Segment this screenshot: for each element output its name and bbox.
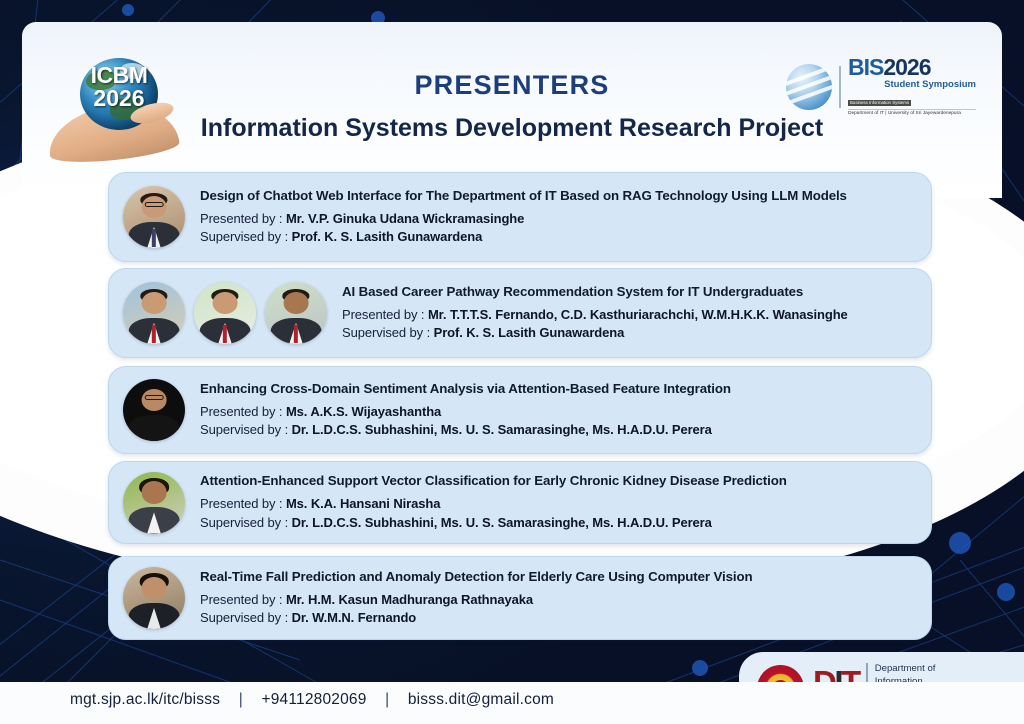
presented-by-label: Presented by : xyxy=(200,592,286,607)
supervised-by-line: Supervised by : Prof. K. S. Lasith Gunaw… xyxy=(342,324,848,342)
presented-by-line: Presented by : Mr. V.P. Ginuka Udana Wic… xyxy=(200,210,847,228)
presenter-details: Enhancing Cross-Domain Sentiment Analysi… xyxy=(185,381,745,440)
presenter-card[interactable]: Design of Chatbot Web Interface for The … xyxy=(108,172,932,262)
bis-logo-tagline: Student Symposium xyxy=(848,80,976,90)
supervised-by-line: Supervised by : Dr. L.D.C.S. Subhashini,… xyxy=(200,514,787,532)
globe-stripes-icon xyxy=(786,64,832,110)
supervisor-names: Prof. K. S. Lasith Gunawardena xyxy=(292,229,483,244)
presenter-card[interactable]: Real-Time Fall Prediction and Anomaly De… xyxy=(108,556,932,640)
presented-by-line: Presented by : Mr. H.M. Kasun Madhuranga… xyxy=(200,591,752,609)
presenter-photos xyxy=(109,567,185,629)
presented-by-line: Presented by : Mr. T.T.T.S. Fernando, C.… xyxy=(342,306,848,324)
project-title: Design of Chatbot Web Interface for The … xyxy=(200,188,847,203)
footer-bar: mgt.sjp.ac.lk/itc/bisss | +94112802069 |… xyxy=(0,682,1024,724)
presenter-names: Mr. T.T.T.S. Fernando, C.D. Kasthuriarac… xyxy=(428,307,848,322)
presenter-details: Real-Time Fall Prediction and Anomaly De… xyxy=(185,569,766,628)
supervisor-names: Dr. W.M.N. Fernando xyxy=(292,610,417,625)
presenter-card[interactable]: AI Based Career Pathway Recommendation S… xyxy=(108,268,932,358)
presenter-card[interactable]: Attention-Enhanced Support Vector Classi… xyxy=(108,461,932,544)
page-subtitle: Information Systems Development Research… xyxy=(22,114,1002,143)
presented-by-label: Presented by : xyxy=(200,496,286,511)
bis-logo-wordmark: BIS2026 xyxy=(848,57,976,79)
supervised-by-label: Supervised by : xyxy=(200,229,292,244)
presenter-names: Ms. K.A. Hansani Nirasha xyxy=(286,496,440,511)
avatar xyxy=(123,472,185,534)
presenter-photos xyxy=(109,472,185,534)
presenter-names: Mr. H.M. Kasun Madhuranga Rathnayaka xyxy=(286,592,533,607)
footer-separator-2: | xyxy=(371,691,403,709)
presenter-details: AI Based Career Pathway Recommendation S… xyxy=(327,284,862,343)
presented-by-label: Presented by : xyxy=(200,404,286,419)
avatar xyxy=(123,567,185,629)
supervised-by-line: Supervised by : Dr. W.M.N. Fernando xyxy=(200,609,752,627)
bis-logo-affiliation: Department of IT | University of Sri Jay… xyxy=(848,109,976,117)
supervisor-names: Dr. L.D.C.S. Subhashini, Ms. U. S. Samar… xyxy=(292,422,712,437)
bis-logo-society: Business Information Systems xyxy=(848,100,911,107)
presenter-details: Attention-Enhanced Support Vector Classi… xyxy=(185,473,801,532)
supervised-by-line: Supervised by : Prof. K. S. Lasith Gunaw… xyxy=(200,228,847,246)
dit-dept-line1: Department of xyxy=(875,663,936,676)
presented-by-label: Presented by : xyxy=(342,307,428,322)
project-title: Attention-Enhanced Support Vector Classi… xyxy=(200,473,787,488)
presented-by-line: Presented by : Ms. A.K.S. Wijayashantha xyxy=(200,403,731,421)
supervised-by-label: Supervised by : xyxy=(342,325,434,340)
bis-2026-logo: BIS2026 Student Symposium Business Infor… xyxy=(786,58,976,116)
presenter-photos xyxy=(109,186,185,248)
avatar xyxy=(194,282,256,344)
presenter-photos xyxy=(109,379,185,441)
bis-logo-name: BIS xyxy=(848,54,883,80)
presenter-names: Mr. V.P. Ginuka Udana Wickramasinghe xyxy=(286,211,524,226)
presenter-card[interactable]: Enhancing Cross-Domain Sentiment Analysi… xyxy=(108,366,932,454)
avatar xyxy=(123,282,185,344)
logo-divider xyxy=(839,66,841,108)
presenter-details: Design of Chatbot Web Interface for The … xyxy=(185,188,861,247)
supervisor-names: Prof. K. S. Lasith Gunawardena xyxy=(434,325,625,340)
avatar xyxy=(123,379,185,441)
footer-separator-1: | xyxy=(225,691,257,709)
presented-by-line: Presented by : Ms. K.A. Hansani Nirasha xyxy=(200,495,787,513)
footer-contact-info: mgt.sjp.ac.lk/itc/bisss | +94112802069 |… xyxy=(70,691,554,709)
project-title: Real-Time Fall Prediction and Anomaly De… xyxy=(200,569,752,584)
supervised-by-label: Supervised by : xyxy=(200,610,292,625)
avatar xyxy=(123,186,185,248)
presenter-names: Ms. A.K.S. Wijayashantha xyxy=(286,404,441,419)
bis-logo-year: 2026 xyxy=(883,54,930,80)
presented-by-label: Presented by : xyxy=(200,211,286,226)
supervisor-names: Dr. L.D.C.S. Subhashini, Ms. U. S. Samar… xyxy=(292,515,712,530)
footer-phone[interactable]: +94112802069 xyxy=(261,691,366,708)
avatar xyxy=(265,282,327,344)
footer-website[interactable]: mgt.sjp.ac.lk/itc/bisss xyxy=(70,691,220,708)
supervised-by-line: Supervised by : Dr. L.D.C.S. Subhashini,… xyxy=(200,421,731,439)
project-title: AI Based Career Pathway Recommendation S… xyxy=(342,284,848,299)
supervised-by-label: Supervised by : xyxy=(200,422,292,437)
header-panel: ICBM 2026 PRESENTERS Information Systems… xyxy=(22,22,1002,140)
supervised-by-label: Supervised by : xyxy=(200,515,292,530)
footer-email[interactable]: bisss.dit@gmail.com xyxy=(408,691,554,708)
icbm-2026-logo: ICBM 2026 xyxy=(46,48,186,160)
presenter-photos xyxy=(109,282,327,344)
project-title: Enhancing Cross-Domain Sentiment Analysi… xyxy=(200,381,731,396)
